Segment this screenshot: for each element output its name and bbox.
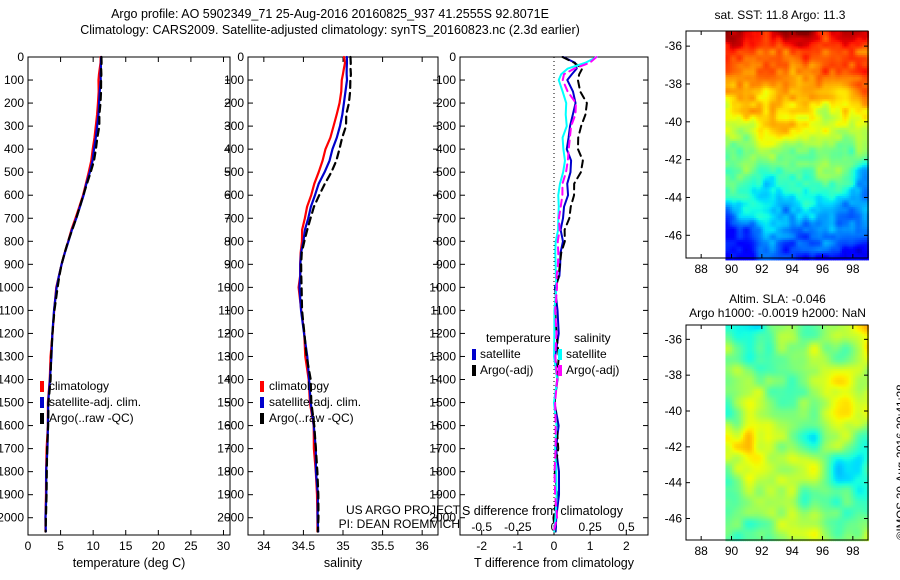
svg-text:T difference from climatology: T difference from climatology	[474, 556, 635, 570]
svg-text:900: 900	[224, 257, 244, 271]
svg-text:600: 600	[4, 188, 24, 202]
svg-text:climatology: climatology	[269, 379, 329, 393]
svg-text:1000: 1000	[0, 280, 24, 294]
svg-text:700: 700	[436, 211, 456, 225]
svg-text:400: 400	[436, 142, 456, 156]
svg-text:-0.25: -0.25	[504, 520, 532, 534]
svg-text:600: 600	[224, 188, 244, 202]
svg-text:200: 200	[4, 96, 24, 110]
svg-text:satellite-adj. clim.: satellite-adj. clim.	[49, 395, 141, 409]
svg-text:1: 1	[587, 539, 594, 553]
svg-text:100: 100	[436, 73, 456, 87]
svg-text:1100: 1100	[0, 303, 24, 317]
svg-text:600: 600	[436, 188, 456, 202]
svg-text:900: 900	[436, 257, 456, 271]
svg-text:1400: 1400	[429, 373, 456, 387]
svg-text:1300: 1300	[217, 349, 244, 363]
svg-text:1200: 1200	[0, 326, 24, 340]
svg-text:satellite: satellite	[480, 347, 521, 361]
svg-text:34: 34	[257, 539, 271, 553]
svg-text:1100: 1100	[218, 303, 244, 317]
svg-text:2000: 2000	[217, 511, 244, 525]
svg-text:salinity: salinity	[324, 556, 363, 570]
svg-text:300: 300	[224, 119, 244, 133]
svg-text:1500: 1500	[217, 396, 244, 410]
svg-text:10: 10	[86, 539, 100, 553]
svg-text:0.5: 0.5	[618, 520, 635, 534]
svg-text:0: 0	[551, 520, 558, 534]
sla-map-title: Altim. SLA: -0.046 Argo h1000: -0.0019 h…	[655, 292, 900, 320]
svg-text:Argo(..raw -QC): Argo(..raw -QC)	[269, 411, 354, 425]
svg-text:temperature (deg C): temperature (deg C)	[73, 556, 186, 570]
svg-text:1400: 1400	[0, 373, 24, 387]
svg-text:1900: 1900	[217, 488, 244, 502]
project-pi: PI: DEAN ROEMMICH	[300, 517, 460, 531]
svg-text:1600: 1600	[217, 419, 244, 433]
svg-text:30: 30	[217, 539, 231, 553]
svg-text:35: 35	[336, 539, 350, 553]
svg-text:Argo(-adj): Argo(-adj)	[480, 363, 533, 377]
sla-title-line-1: Altim. SLA: -0.046	[655, 292, 900, 306]
svg-text:satellite-adj. clim.: satellite-adj. clim.	[269, 395, 361, 409]
svg-text:400: 400	[4, 142, 24, 156]
svg-text:S difference from climatology: S difference from climatology	[462, 504, 624, 518]
svg-text:1700: 1700	[217, 442, 244, 456]
svg-text:35.5: 35.5	[371, 539, 395, 553]
svg-text:1000: 1000	[217, 280, 244, 294]
sst-map-title: sat. SST: 11.8 Argo: 11.3	[660, 8, 900, 22]
svg-text:200: 200	[436, 96, 456, 110]
svg-text:900: 900	[4, 257, 24, 271]
svg-text:0: 0	[237, 50, 244, 64]
svg-text:36: 36	[415, 539, 429, 553]
svg-text:200: 200	[224, 96, 244, 110]
svg-text:5: 5	[57, 539, 64, 553]
svg-text:1200: 1200	[429, 326, 456, 340]
svg-text:1500: 1500	[0, 396, 24, 410]
svg-text:1800: 1800	[0, 465, 24, 479]
svg-text:25: 25	[184, 539, 198, 553]
svg-text:15: 15	[119, 539, 133, 553]
svg-text:1100: 1100	[430, 303, 456, 317]
svg-text:Argo(-adj): Argo(-adj)	[566, 363, 619, 377]
svg-text:100: 100	[4, 73, 24, 87]
svg-text:700: 700	[4, 211, 24, 225]
svg-text:500: 500	[4, 165, 24, 179]
svg-text:0.25: 0.25	[578, 520, 602, 534]
title-line-1: Argo profile: AO 5902349_71 25-Aug-2016 …	[0, 6, 660, 22]
svg-text:20: 20	[152, 539, 166, 553]
svg-text:1700: 1700	[429, 442, 456, 456]
svg-text:temperature: temperature	[486, 331, 551, 345]
svg-text:-0.5: -0.5	[471, 520, 492, 534]
svg-text:700: 700	[224, 211, 244, 225]
svg-text:-2: -2	[476, 539, 487, 553]
svg-text:2000: 2000	[0, 511, 24, 525]
svg-text:1600: 1600	[0, 419, 24, 433]
svg-text:500: 500	[224, 165, 244, 179]
svg-text:1000: 1000	[429, 280, 456, 294]
imos-credit: ©IMOS 30-Aug-2016 20:41:28	[896, 384, 900, 540]
svg-text:climatology: climatology	[49, 379, 109, 393]
sla-title-line-2: Argo h1000: -0.0019 h2000: NaN	[655, 306, 900, 320]
svg-text:1200: 1200	[217, 326, 244, 340]
svg-text:1400: 1400	[217, 373, 244, 387]
svg-text:0: 0	[17, 50, 24, 64]
project-name: US ARGO PROJECT	[300, 503, 460, 517]
svg-text:0: 0	[551, 539, 558, 553]
project-note: US ARGO PROJECT PI: DEAN ROEMMICH	[300, 503, 460, 531]
svg-text:Argo(..raw -QC): Argo(..raw -QC)	[49, 411, 134, 425]
svg-text:0: 0	[449, 50, 456, 64]
svg-text:1600: 1600	[429, 419, 456, 433]
svg-text:500: 500	[436, 165, 456, 179]
svg-text:-1: -1	[513, 539, 524, 553]
svg-text:300: 300	[4, 119, 24, 133]
svg-text:1800: 1800	[429, 465, 456, 479]
svg-text:1800: 1800	[217, 465, 244, 479]
figure-title: Argo profile: AO 5902349_71 25-Aug-2016 …	[0, 6, 660, 38]
svg-text:400: 400	[224, 142, 244, 156]
svg-text:1700: 1700	[0, 442, 24, 456]
svg-text:1900: 1900	[429, 488, 456, 502]
svg-text:salinity: salinity	[574, 331, 611, 345]
svg-text:1300: 1300	[429, 349, 456, 363]
svg-text:800: 800	[4, 234, 24, 248]
svg-text:0: 0	[25, 539, 32, 553]
svg-text:1300: 1300	[0, 349, 24, 363]
svg-text:800: 800	[436, 234, 456, 248]
svg-text:800: 800	[224, 234, 244, 248]
svg-text:300: 300	[436, 119, 456, 133]
svg-text:satellite: satellite	[566, 347, 607, 361]
svg-text:1500: 1500	[429, 396, 456, 410]
title-line-2: Climatology: CARS2009. Satellite-adjuste…	[0, 22, 660, 38]
svg-text:1900: 1900	[0, 488, 24, 502]
svg-text:2: 2	[623, 539, 630, 553]
svg-text:100: 100	[224, 73, 244, 87]
svg-text:34.5: 34.5	[292, 539, 316, 553]
